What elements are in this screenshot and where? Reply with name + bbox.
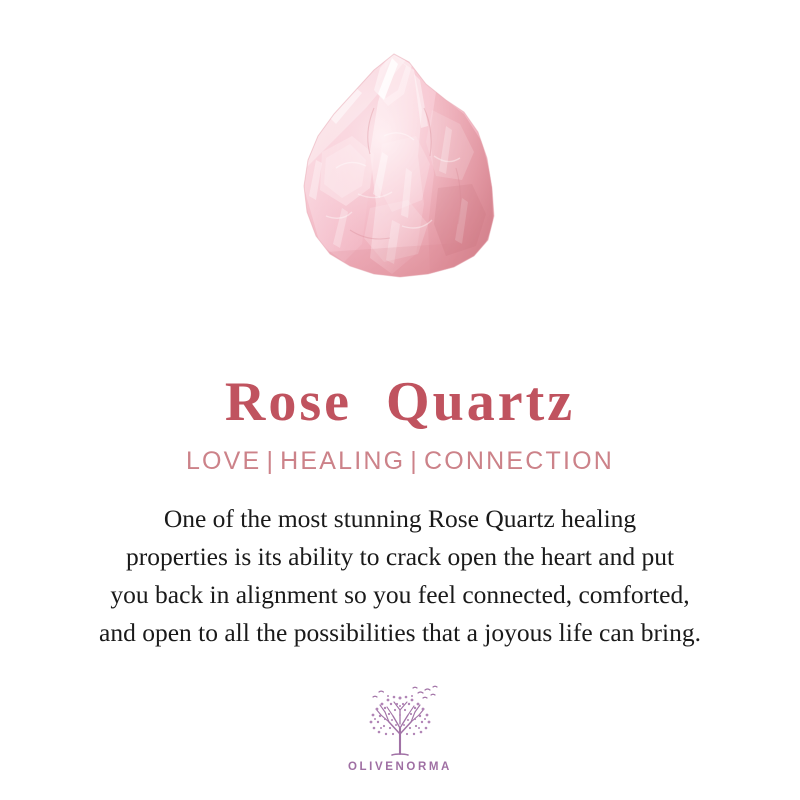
product-info-card: Rose Quartz LOVE|HEALING|CONNECTION One …: [0, 0, 800, 800]
description-line-1: One of the most stunning Rose Quartz hea…: [36, 500, 764, 538]
brand-logo: OLIVENORMA: [0, 684, 800, 773]
crystal-illustration: [296, 48, 504, 284]
page-title: Rose Quartz: [0, 372, 800, 434]
tree-with-birds-icon: [361, 684, 439, 758]
keyword-separator-1: |: [261, 447, 280, 475]
description-line-3: you back in alignment so you feel connec…: [36, 576, 764, 614]
brand-name: OLIVENORMA: [348, 761, 452, 773]
description-line-2: properties is its ability to crack open …: [36, 538, 764, 576]
rose-quartz-crystal-image: [296, 48, 504, 284]
product-description: One of the most stunning Rose Quartz hea…: [36, 500, 764, 652]
keyword-separator-2: |: [405, 447, 424, 475]
description-line-4: and open to all the possibilities that a…: [36, 614, 764, 652]
keyword-love: LOVE: [186, 447, 262, 475]
keyword-connection: CONNECTION: [424, 447, 614, 475]
crystal-body: [296, 48, 504, 284]
keyword-healing: HEALING: [280, 447, 405, 475]
keyword-tagline: LOVE|HEALING|CONNECTION: [0, 446, 800, 476]
